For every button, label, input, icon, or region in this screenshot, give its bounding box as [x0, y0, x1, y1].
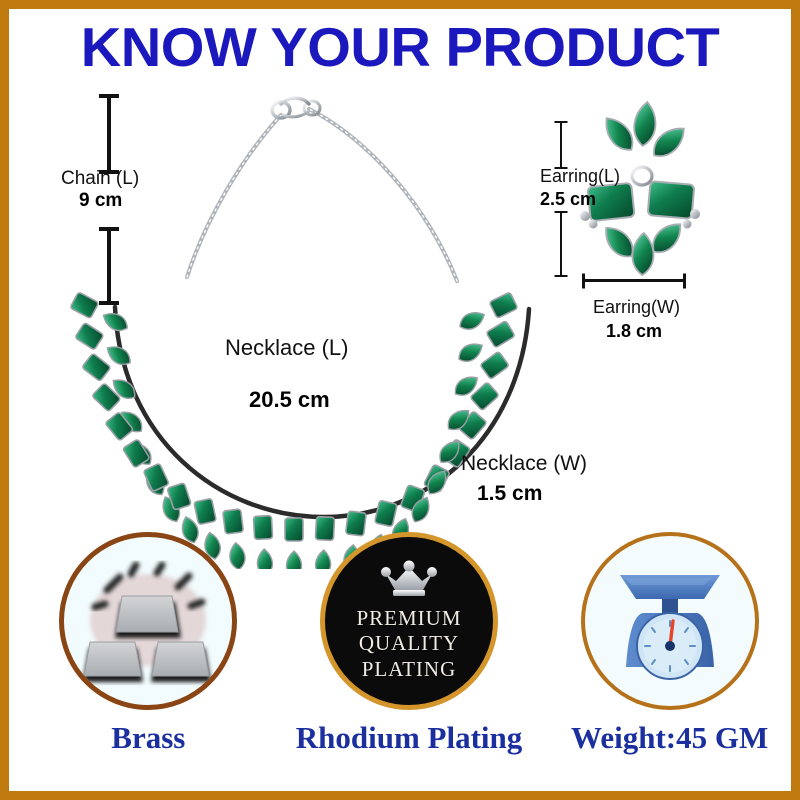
badge-weight: Weight:45 GM — [555, 532, 785, 756]
earring-length-label: Earring(L) — [540, 166, 620, 187]
earring-length-rule-upper — [560, 121, 562, 169]
premium-seal-line-1: PREMIUM — [356, 606, 461, 632]
earring-illustration — [580, 101, 700, 275]
product-infographic: KNOW YOUR PRODUCT — [0, 0, 800, 800]
chain-length-value: 9 cm — [79, 190, 122, 212]
chain-length-rule-upper — [107, 94, 111, 174]
earring-width-rule — [582, 279, 686, 282]
necklace-length-label: Necklace (L) — [225, 335, 348, 361]
premium-seal-disc: PREMIUM QUALITY PLATING — [320, 532, 498, 710]
crown-icon — [378, 560, 440, 600]
weighing-scale-icon — [600, 551, 740, 691]
jewellery-svg — [9, 9, 800, 569]
page-title: KNOW YOUR PRODUCT — [1, 15, 799, 79]
earring-width-value: 1.8 cm — [606, 321, 662, 342]
brass-label: Brass — [111, 720, 185, 756]
chain-length-rule-lower — [107, 227, 111, 305]
badge-rhodium-plating: PREMIUM QUALITY PLATING Rhodium Plating — [294, 532, 524, 756]
badge-brass: Brass — [33, 532, 263, 756]
premium-seal-line-3: PLATING — [362, 657, 457, 683]
earring-length-rule-lower — [560, 211, 562, 277]
chain-length-label: Chain (L) — [61, 168, 139, 190]
rhodium-plating-label: Rhodium Plating — [296, 720, 523, 756]
weight-label: Weight:45 GM — [571, 720, 768, 756]
clasp — [272, 98, 320, 118]
premium-seal-line-2: QUALITY — [359, 631, 459, 657]
weight-disc — [581, 532, 759, 710]
earring-width-label: Earring(W) — [593, 297, 680, 318]
brass-disc — [59, 532, 237, 710]
necklace-width-label: Necklace (W) — [461, 452, 587, 476]
necklace-stones — [70, 292, 518, 569]
feature-badges: Brass — [18, 532, 800, 782]
metal-ingots-icon — [73, 546, 223, 696]
earring-length-value: 2.5 cm — [540, 189, 596, 210]
necklace-width-value: 1.5 cm — [477, 482, 542, 506]
necklace-length-value: 20.5 cm — [249, 387, 330, 413]
